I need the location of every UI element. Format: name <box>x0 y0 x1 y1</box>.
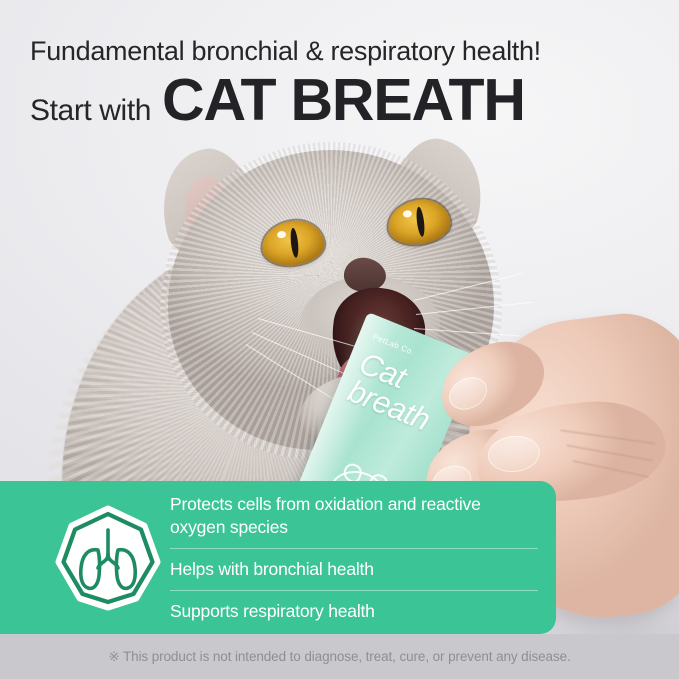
cat-eye-gleam-right <box>403 210 413 218</box>
benefits-panel: Protects cells from oxidation and reacti… <box>0 481 556 634</box>
benefit-item: Supports respiratory health <box>170 590 538 632</box>
benefit-item: Helps with bronchial health <box>170 548 538 590</box>
headline-main-line: Start with CAT BREATH <box>30 70 541 130</box>
advertisement-image: PetLab Co. Cat breath Fundamental bronc <box>0 0 679 679</box>
benefits-list: Protects cells from oxidation and reacti… <box>170 484 538 632</box>
thumbnail <box>486 433 541 474</box>
fingernail <box>443 371 492 416</box>
headline-block: Fundamental bronchial & respiratory heal… <box>30 34 541 130</box>
headline-product-name: CAT BREATH <box>162 70 525 130</box>
cat-pupil-left <box>289 228 299 259</box>
cat-pupil-right <box>415 207 426 238</box>
headline-prefix: Start with <box>30 94 151 128</box>
cat-eye-gleam-left <box>277 231 287 239</box>
benefit-item: Protects cells from oxidation and reacti… <box>170 484 538 548</box>
lungs-hexagon-icon <box>52 504 164 612</box>
disclaimer-band: ※ This product is not intended to diagno… <box>0 634 679 679</box>
disclaimer-text: ※ This product is not intended to diagno… <box>108 649 570 665</box>
headline-subtitle: Fundamental bronchial & respiratory heal… <box>30 34 541 68</box>
